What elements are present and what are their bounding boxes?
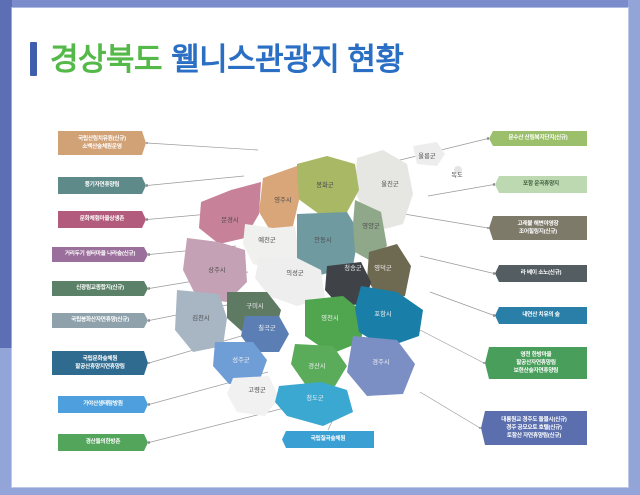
map-region-label: 울진군 [381,179,399,188]
callout-culture-experience[interactable]: 문화체험마을상생촌 [58,211,146,228]
callout-line: 팔공산자연휴양림 [516,359,556,367]
callout-line: 대릉원교 경주도 돌물시(신규) [501,416,566,424]
callout-naeyeonsan-forest[interactable]: 내연산 치유의 숲 [495,307,587,324]
callout-labay-sono[interactable]: 라 베이 소노(신규) [495,265,587,282]
callout-line: 경산들의한방촌 [86,438,121,446]
map-region-label: 고령군 [248,386,266,394]
map-region-label: 독도 [451,171,463,179]
callout-pohang-recreation[interactable]: 포항 운곡휴양지 [495,176,587,193]
callout-line: 소백산숲체원운영 [82,143,122,151]
callout-line: 문수산 산림복지단지(신규) [508,134,567,142]
map-region-label: 성주군 [232,355,250,364]
callout-line: 라 베이 소노(신규) [521,269,562,277]
callout-line: 국립칠곡숲체원 [311,435,346,443]
title-part-1: 경상북도 [50,42,162,77]
callout-national-forest-healing[interactable]: 국립산림치유원(신규)소백산숲체원운영 [58,131,146,155]
title-accent-bar [30,42,37,76]
gyeongsangbuk-do-map: 울릉군독도봉화군울진군영주시문경시예천군안동시영양군영덕군상주시의성군청송군구미… [175,120,475,450]
callout-line: 국립문화숲체원 [83,355,118,363]
map-region-label: 김천시 [192,313,209,322]
map-region-label: 상주시 [208,265,225,274]
map-region-label: 경산시 [308,361,325,370]
callout-munsusan-welfare[interactable]: 문수산 산림복지단지(신규) [489,131,587,146]
callout-line: 영천 한방마을 [520,351,551,359]
map-region-label: 예천군 [258,235,276,244]
callout-line: 토함산 자연휴양림(신규) [507,432,561,440]
callout-gyeongsan-wellness[interactable]: 경산들의한방촌 [58,434,148,451]
callout-line: 풍기자연휴양림 [85,181,120,189]
callout-mongdol-healing[interactable]: 거리두기 쉼터마을 나라숲(신규) [52,247,148,262]
title-part-2: 웰니스관광지 현황 [171,42,403,77]
callout-line: 조어힐링지(신규) [519,228,557,236]
map-region-label: 문경시 [221,215,238,224]
page-title: 경상북도웰니스관광지 현황 [30,42,403,76]
map-region-label: 청송군 [344,264,362,272]
callout-line: 포항 운곡휴양지 [523,180,559,188]
callout-wellness-resort[interactable]: 풍기자연휴양림 [58,177,146,194]
callout-line: 고래불 해변야영장 [518,220,559,228]
callout-line: 국립봉화산자연휴양(신규) [71,316,129,324]
map-region-label: 봉화군 [316,181,334,189]
map-region-label: 울릉군 [418,152,436,160]
callout-daereungwon-complex[interactable]: 대릉원교 경주도 돌물시(신규)경주 공모오토 호텔(신규)토함산 자연휴양림(… [481,411,587,445]
callout-yeongcheon-hanbang[interactable]: 영천 한방마을팔공산자연휴양림보현산숲자연휴양림 [485,347,587,379]
callout-line: 문화체험마을상생촌 [80,215,125,223]
callout-forest-healing-center[interactable]: 국립봉화산자연휴양(신규) [52,313,148,328]
window-left-border-light [0,348,12,495]
map-region-label: 영주시 [274,195,291,204]
callout-sinhak-healing[interactable]: 신광림교종합지(신규) [52,281,148,296]
map-svg: 울릉군독도봉화군울진군영주시문경시예천군안동시영양군영덕군상주시의성군청송군구미… [175,120,475,450]
map-region-label: 안동시 [314,235,331,244]
callout-line: 내연산 치유의 숲 [522,311,559,319]
map-region-label: 영양군 [362,221,380,230]
callout-gaya-ecopark[interactable]: 가야산생태탐방원 [58,396,148,413]
callout-line: 팔공산휴양지연휴양림 [75,363,124,371]
window-bottom-border [0,487,640,495]
map-region-label: 영천시 [321,313,338,322]
map-region-label: 청도군 [306,394,324,402]
callout-gukrip-gimcheon[interactable]: 국립문화숲체원팔공산휴양지연휴양림 [52,351,148,375]
map-region-label: 구미시 [246,301,263,310]
map-region-label: 의성군 [286,268,304,277]
callout-line: 국립산림치유원(신규) [78,135,126,143]
map-region-label: 칠곡군 [258,323,276,332]
callout-line: 거리두기 쉼터마을 나라숲(신규) [65,250,135,258]
window-right-border [628,0,640,495]
map-region-label: 포항시 [374,309,391,318]
map-region-label: 영덕군 [374,263,392,272]
callout-gukrip-chilgok[interactable]: 국립칠곡숲체원 [282,431,374,448]
callout-line: 보현산숲자연휴양림 [514,367,559,375]
callout-line: 신광림교종합지(신규) [76,284,124,292]
callout-line: 경주 공모오토 호텔(신규) [506,424,562,432]
callout-line: 가야산생태탐방원 [83,400,123,408]
callout-goraebul-beach[interactable]: 고래불 해변야영장조어힐링지(신규) [489,216,587,240]
map-region-label: 경주시 [372,357,389,366]
